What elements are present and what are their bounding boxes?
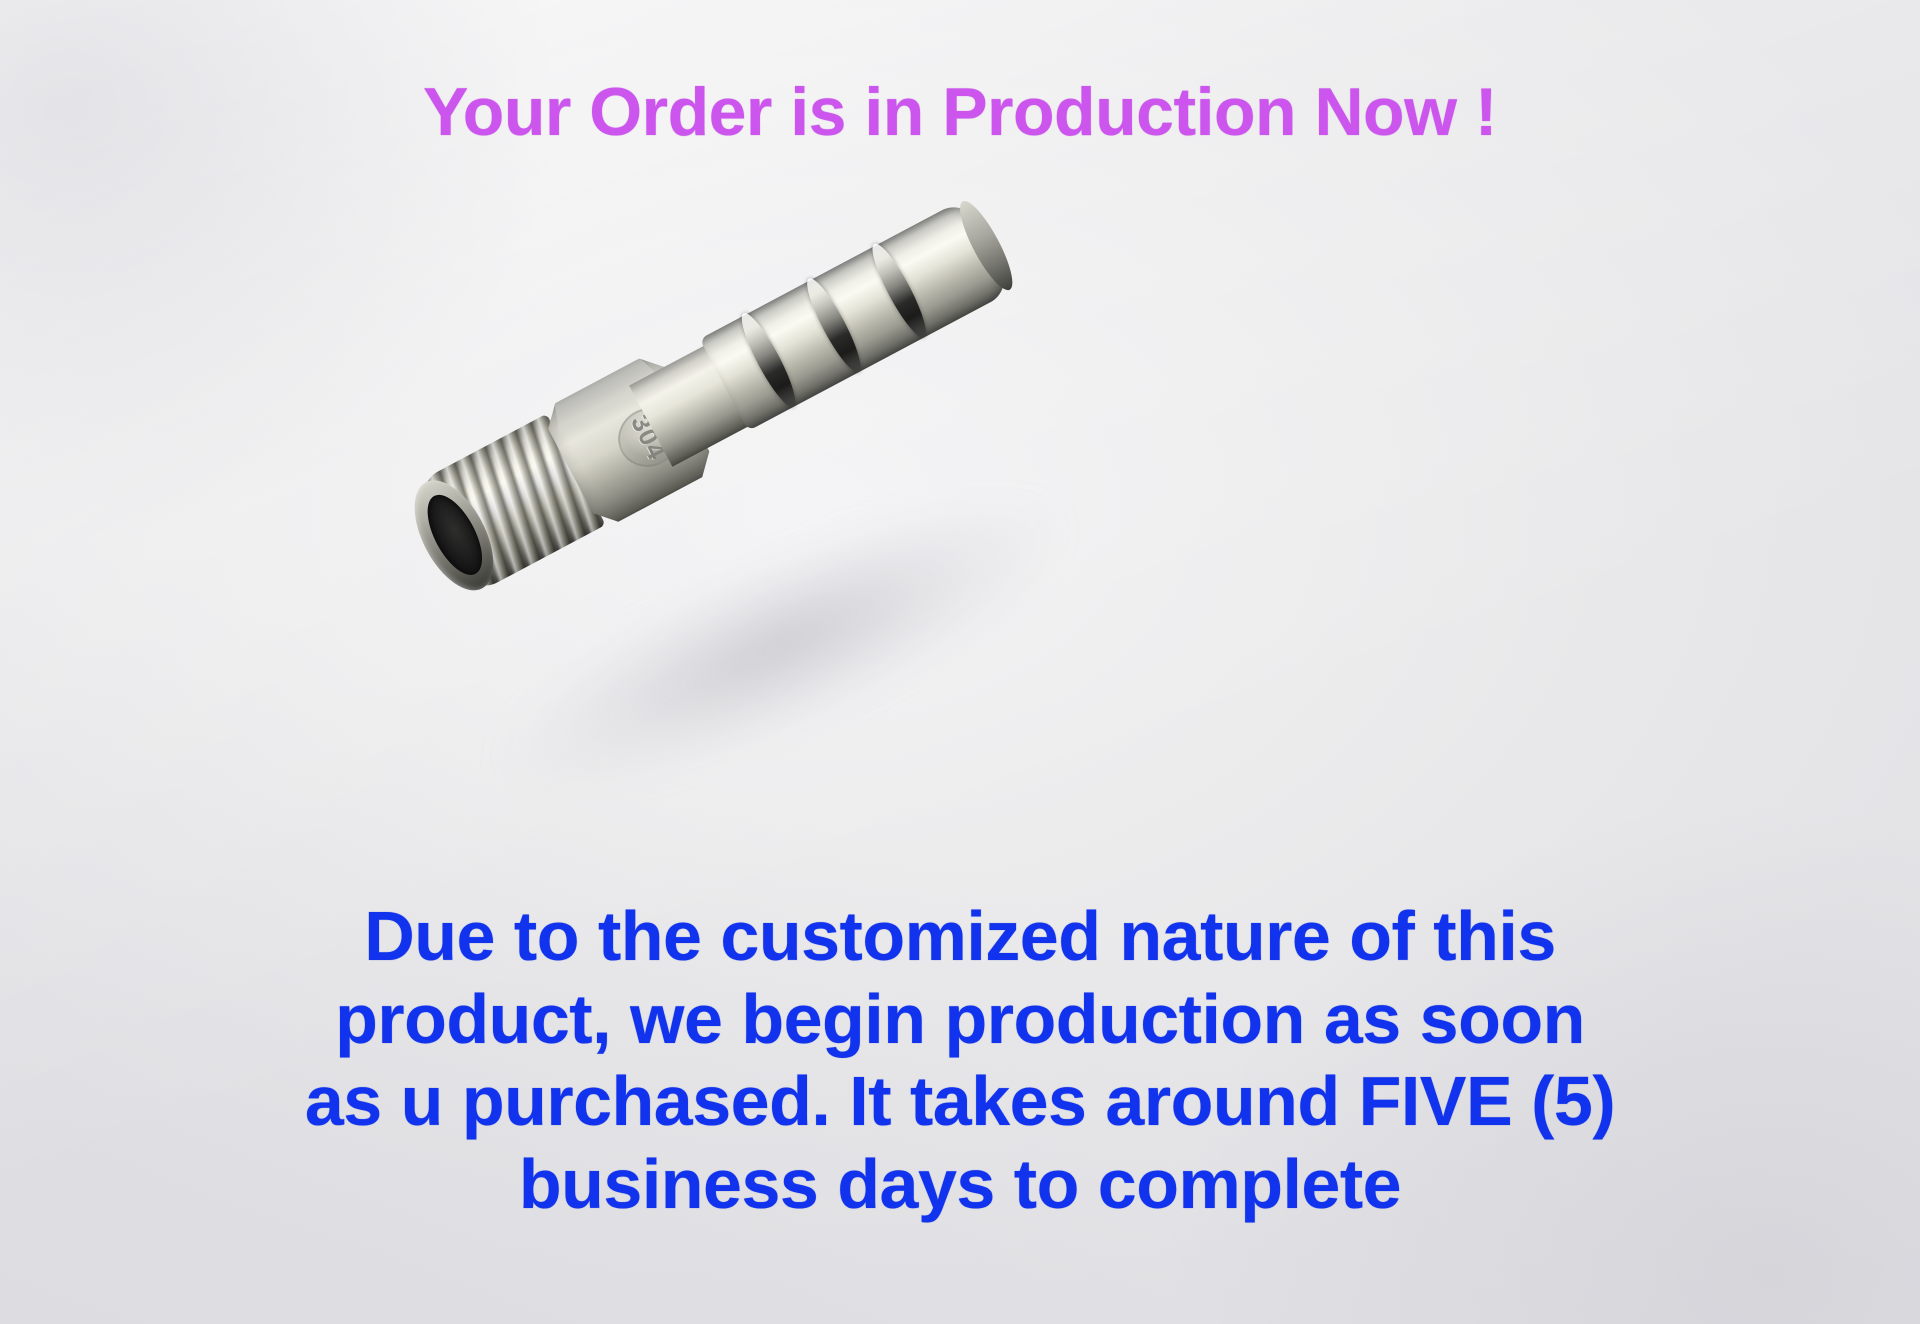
production-notice-text: Due to the customized nature of this pro… <box>0 895 1920 1225</box>
notice-line-3: as u purchased. It takes around FIVE (5) <box>0 1060 1920 1143</box>
notice-line-1: Due to the customized nature of this <box>0 895 1920 978</box>
promo-banner: Your Order is in Production Now ! 304 Du… <box>0 0 1920 1324</box>
notice-line-2: product, we begin production as soon <box>0 978 1920 1061</box>
product-photo-hose-barb-fitting: 304 <box>333 72 1148 771</box>
notice-line-4: business days to complete <box>0 1143 1920 1226</box>
